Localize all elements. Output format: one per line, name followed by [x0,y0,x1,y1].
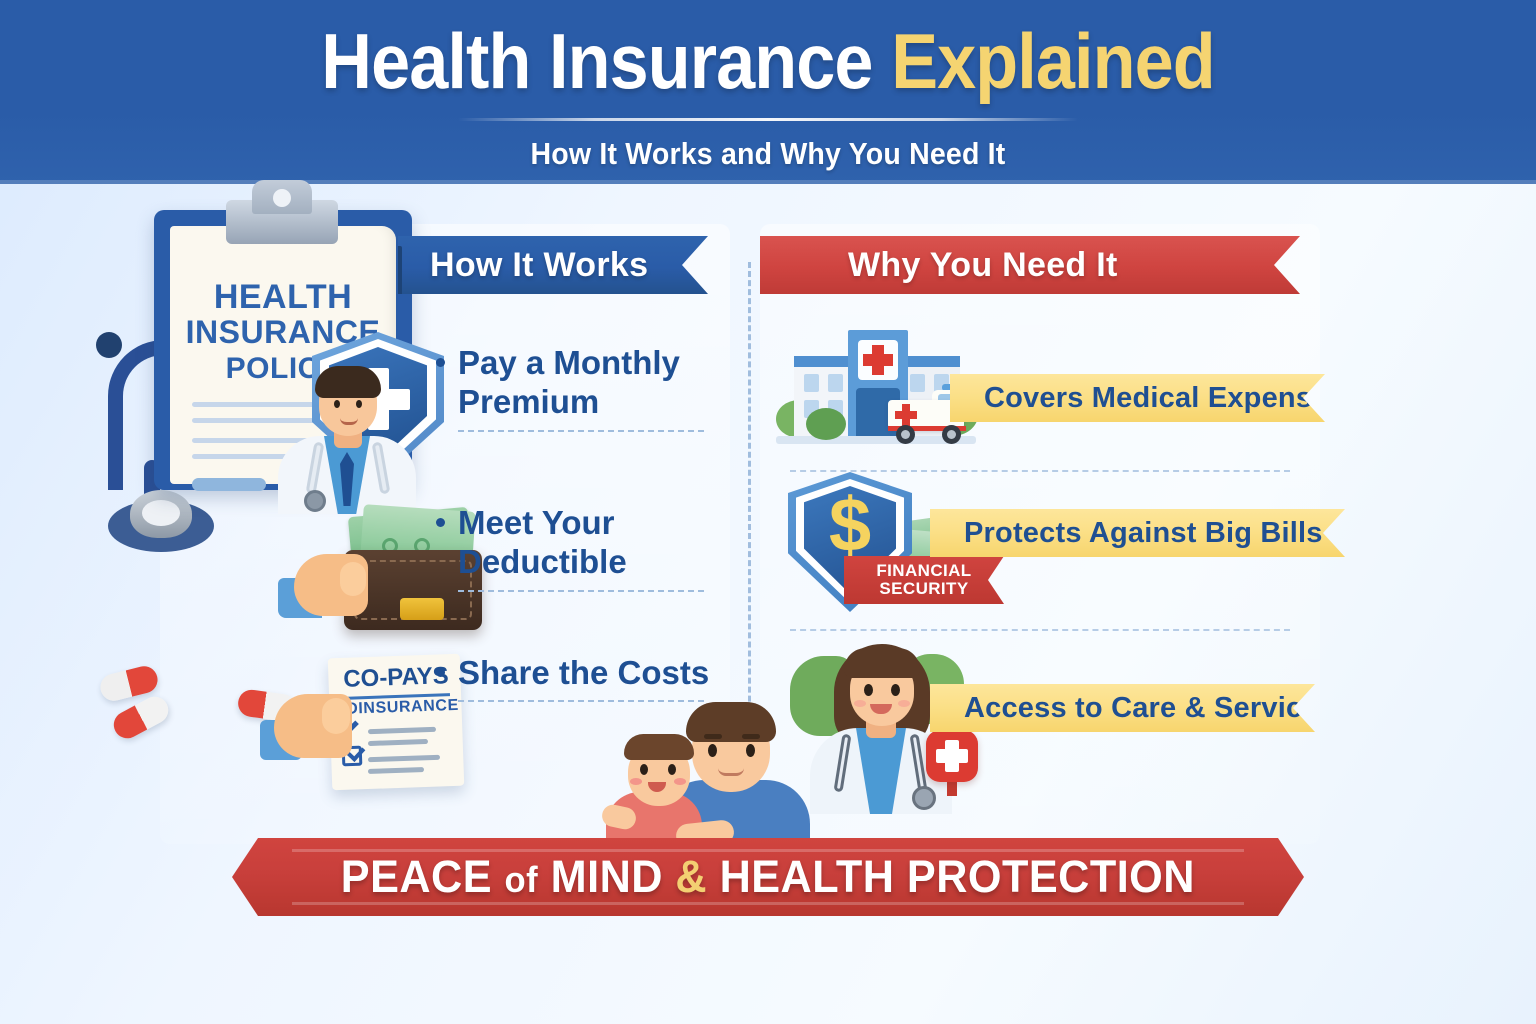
male-doctor-avatar [272,360,422,510]
footer-banner-label: PEACE of MIND & HEALTH PROTECTION [341,851,1195,903]
list-item: Pay a Monthly Premium [458,344,728,422]
list-item-label: Share the Costs [458,654,728,693]
footer-word-of: of [505,859,539,900]
footer-word-ampersand: & [676,851,708,902]
financial-security-ribbon: FINANCIAL SECURITY [844,556,1004,604]
page-title-primary: Health Insurance [321,17,872,105]
benefit-divider [790,470,1290,472]
benefit-banner-label: Protects Against Big Bills [930,517,1323,550]
section-banner-why-you-need-it: Why You Need It [760,236,1300,294]
benefit-banner: Protects Against Big Bills [930,509,1345,557]
list-item-divider [458,590,704,592]
hospital-ambulance-illustration [776,326,976,458]
list-item: Meet Your Deductible [458,504,728,582]
section-banner-how-it-works-label: How It Works [398,246,648,285]
footer-word-peace: PEACE [341,851,492,902]
financial-security-line-2: SECURITY [879,580,968,598]
page-subtitle: How It Works and Why You Need It [61,136,1474,172]
financial-security-line-1: FINANCIAL [876,562,971,580]
family-illustration [598,694,838,854]
section-banner-how-it-works: How It Works [398,236,708,294]
list-item-label: Meet Your Deductible [458,504,728,582]
list-item-divider [458,700,704,702]
section-banner-why-you-need-it-label: Why You Need It [760,246,1118,285]
bullet-icon [436,358,445,367]
clipboard-line-1: HEALTH [170,278,396,317]
copays-card-title: CO-PAYS [330,662,463,695]
footer-word-health-protection: HEALTH PROTECTION [720,851,1195,902]
list-item-label: Pay a Monthly Premium [458,344,728,422]
bullet-icon [436,518,445,527]
bullet-icon [436,668,445,677]
title-divider-rule [458,118,1078,121]
footer-word-mind: MIND [551,851,663,902]
header-band: Health Insurance Explained How It Works … [0,0,1536,184]
page-title-accent: Explained [891,17,1215,105]
dollar-symbol-icon: $ [804,488,896,564]
benefit-banner-label: Covers Medical Expenses [950,382,1345,415]
footer-banner: PEACE of MIND & HEALTH PROTECTION [232,838,1304,916]
benefit-banner: Access to Care & Services [930,684,1315,732]
list-item: Share the Costs [458,654,728,693]
benefit-divider [790,629,1290,631]
benefit-banner: Covers Medical Expenses [950,374,1325,422]
list-item-divider [458,430,704,432]
benefit-banner-label: Access to Care & Services [930,692,1335,725]
content-area: HEALTH INSURANCE POLICY [0,184,1536,1024]
page-title: Health Insurance Explained [77,22,1459,100]
infographic-poster: Health Insurance Explained How It Works … [0,0,1536,1024]
